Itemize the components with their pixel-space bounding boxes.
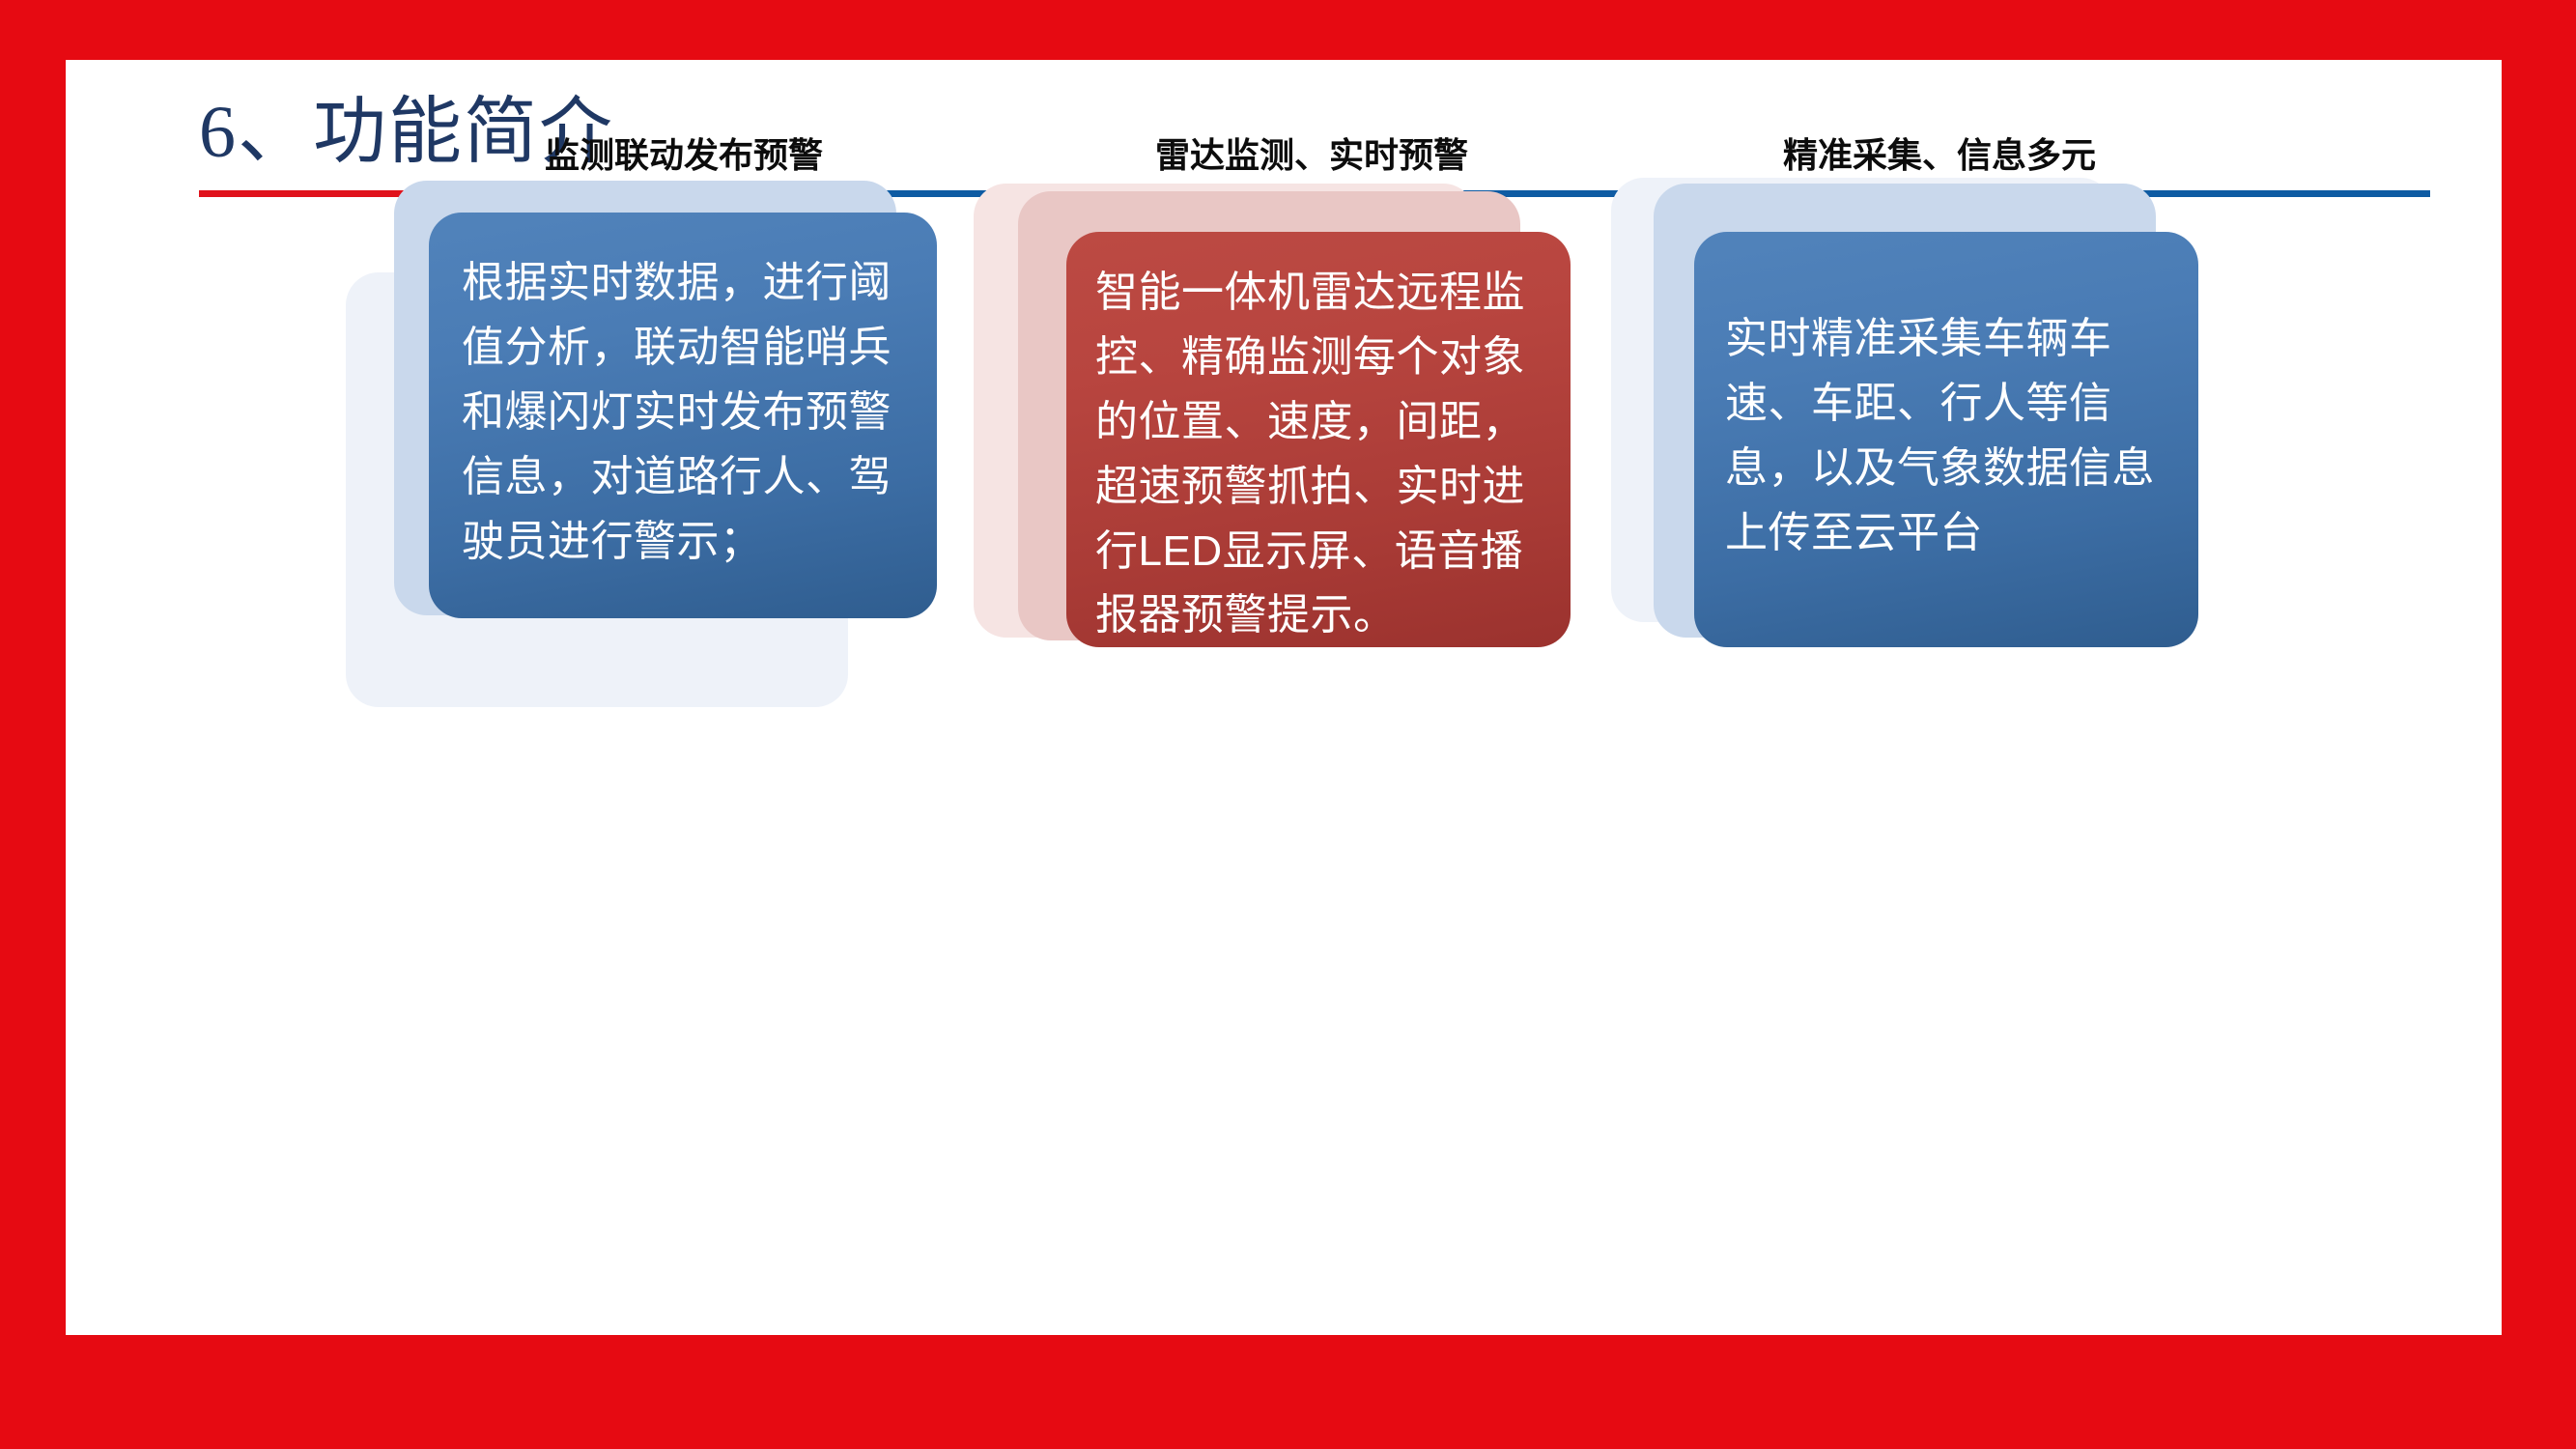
slide-canvas: 6、功能简介 监测联动发布预警 根据实时数据，进行阈值分析，联动智能哨兵和爆闪灯… — [66, 60, 2502, 1335]
card-3-tile[interactable]: 实时精准采集车辆车速、车距、行人等信息，以及气象数据信息上传至云平台 — [1694, 232, 2198, 647]
card-heading-3: 精准采集、信息多元 — [1601, 137, 2278, 176]
card-heading-2: 雷达监测、实时预警 — [974, 137, 1650, 176]
feature-card-1[interactable]: 监测联动发布预警 根据实时数据，进行阈值分析，联动智能哨兵和爆闪灯实时发布预警信… — [346, 137, 1022, 736]
card-1-body: 根据实时数据，进行阈值分析，联动智能哨兵和爆闪灯实时发布预警信息，对道路行人、驾… — [462, 251, 908, 574]
card-heading-1: 监测联动发布预警 — [346, 137, 1022, 176]
card-2-body: 智能一体机雷达远程监控、精确监测每个对象的位置、速度，间距，超速预警抓拍、实时进… — [1095, 261, 1549, 647]
card-2-tile[interactable]: 智能一体机雷达远程监控、精确监测每个对象的位置、速度，间距，超速预警抓拍、实时进… — [1066, 232, 1571, 647]
card-1-tile[interactable]: 根据实时数据，进行阈值分析，联动智能哨兵和爆闪灯实时发布预警信息，对道路行人、驾… — [429, 213, 937, 618]
card-3-body: 实时精准采集车辆车速、车距、行人等信息，以及气象数据信息上传至云平台 — [1725, 307, 2175, 566]
feature-card-3[interactable]: 精准采集、信息多元 实时精准采集车辆车速、车距、行人等信息，以及气象数据信息上传… — [1601, 137, 2278, 736]
slide-root: 6、功能简介 监测联动发布预警 根据实时数据，进行阈值分析，联动智能哨兵和爆闪灯… — [0, 0, 2576, 1449]
feature-card-2[interactable]: 雷达监测、实时预警 智能一体机雷达远程监控、精确监测每个对象的位置、速度，间距，… — [974, 137, 1650, 736]
cards-row: 监测联动发布预警 根据实时数据，进行阈值分析，联动智能哨兵和爆闪灯实时发布预警信… — [66, 60, 2502, 1335]
